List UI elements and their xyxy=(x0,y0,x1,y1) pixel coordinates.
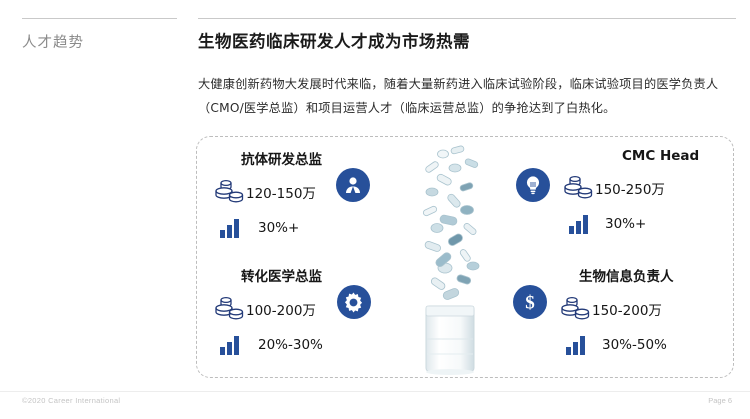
role-title: 转化医学总监 xyxy=(241,265,322,285)
coins-icon xyxy=(215,178,245,206)
growth-row: 30%+ xyxy=(564,207,699,241)
role-title: 抗体研发总监 xyxy=(241,148,322,168)
section-label: 人才趋势 xyxy=(22,31,177,52)
growth-row: 30%+ xyxy=(215,211,299,245)
person-icon-badge xyxy=(336,168,370,202)
salary-row: 120-150万 xyxy=(215,175,316,209)
salary-value: 120-150万 xyxy=(246,182,316,202)
salary-value: 100-200万 xyxy=(246,299,316,319)
svg-text:$: $ xyxy=(525,293,535,314)
bar-chart-icon xyxy=(219,334,241,356)
footer-divider xyxy=(0,391,750,392)
gear-icon-badge xyxy=(337,285,371,319)
coins-icon xyxy=(564,174,594,202)
salary-row: 150-200万 xyxy=(561,292,674,326)
salary-value: 150-250万 xyxy=(595,178,665,198)
page-title: 生物医药临床研发人才成为市场热需 xyxy=(198,28,736,52)
role-text-group: 抗体研发总监 120-150万 30%+ xyxy=(215,148,322,245)
bar-chart-icon xyxy=(219,217,241,239)
page-number: Page 6 xyxy=(708,396,732,405)
section-divider xyxy=(22,18,177,19)
role-text-group: 转化医学总监 100-200万 20%-30% xyxy=(215,265,323,362)
role-title: CMC Head xyxy=(622,148,699,164)
role-title: 生物信息负责人 xyxy=(579,265,674,285)
role-block-bioinformatics-lead: $ 生物信息负责人 150-200万 xyxy=(513,265,674,362)
role-block-antibody-rd-director: 抗体研发总监 120-150万 30%+ xyxy=(215,148,370,245)
salary-row: 100-200万 xyxy=(215,292,316,326)
section-rail: 人才趋势 xyxy=(22,18,177,52)
bar-chart-icon xyxy=(565,334,587,356)
dollar-icon: $ xyxy=(519,291,541,313)
slide-main: 生物医药临床研发人才成为市场热需 大健康创新药物大发展时代来临，随着大量新药进入… xyxy=(198,18,736,120)
growth-value: 30%+ xyxy=(258,220,299,236)
salary-value: 150-200万 xyxy=(592,299,662,319)
lightbulb-icon-badge xyxy=(516,168,550,202)
title-divider xyxy=(198,18,736,19)
dollar-icon-badge: $ xyxy=(513,285,547,319)
growth-value: 30%-50% xyxy=(602,337,667,353)
growth-row: 30%-50% xyxy=(561,328,674,362)
growth-value: 30%+ xyxy=(605,216,646,232)
bar-chart-icon xyxy=(568,213,590,235)
body-paragraph: 大健康创新药物大发展时代来临，随着大量新药进入临床试验阶段，临床试验项目的医学负… xyxy=(198,72,728,120)
salary-row: 150-250万 xyxy=(564,171,699,205)
coins-icon xyxy=(215,295,245,323)
gear-icon xyxy=(342,291,365,314)
growth-row: 20%-30% xyxy=(215,328,323,362)
copyright-text: ©2020 Career International xyxy=(22,396,120,405)
role-block-translational-medicine-director: 转化医学总监 100-200万 20%-30% xyxy=(215,265,371,362)
person-icon xyxy=(342,174,364,196)
role-block-cmc-head: CMC Head 150-250万 30%+ xyxy=(516,148,699,241)
role-text-group: 生物信息负责人 150-200万 30%-50% xyxy=(561,265,674,362)
growth-value: 20%-30% xyxy=(258,337,323,353)
role-text-group: CMC Head 150-250万 30%+ xyxy=(564,148,699,241)
lightbulb-icon xyxy=(522,174,544,196)
coins-icon xyxy=(561,295,591,323)
